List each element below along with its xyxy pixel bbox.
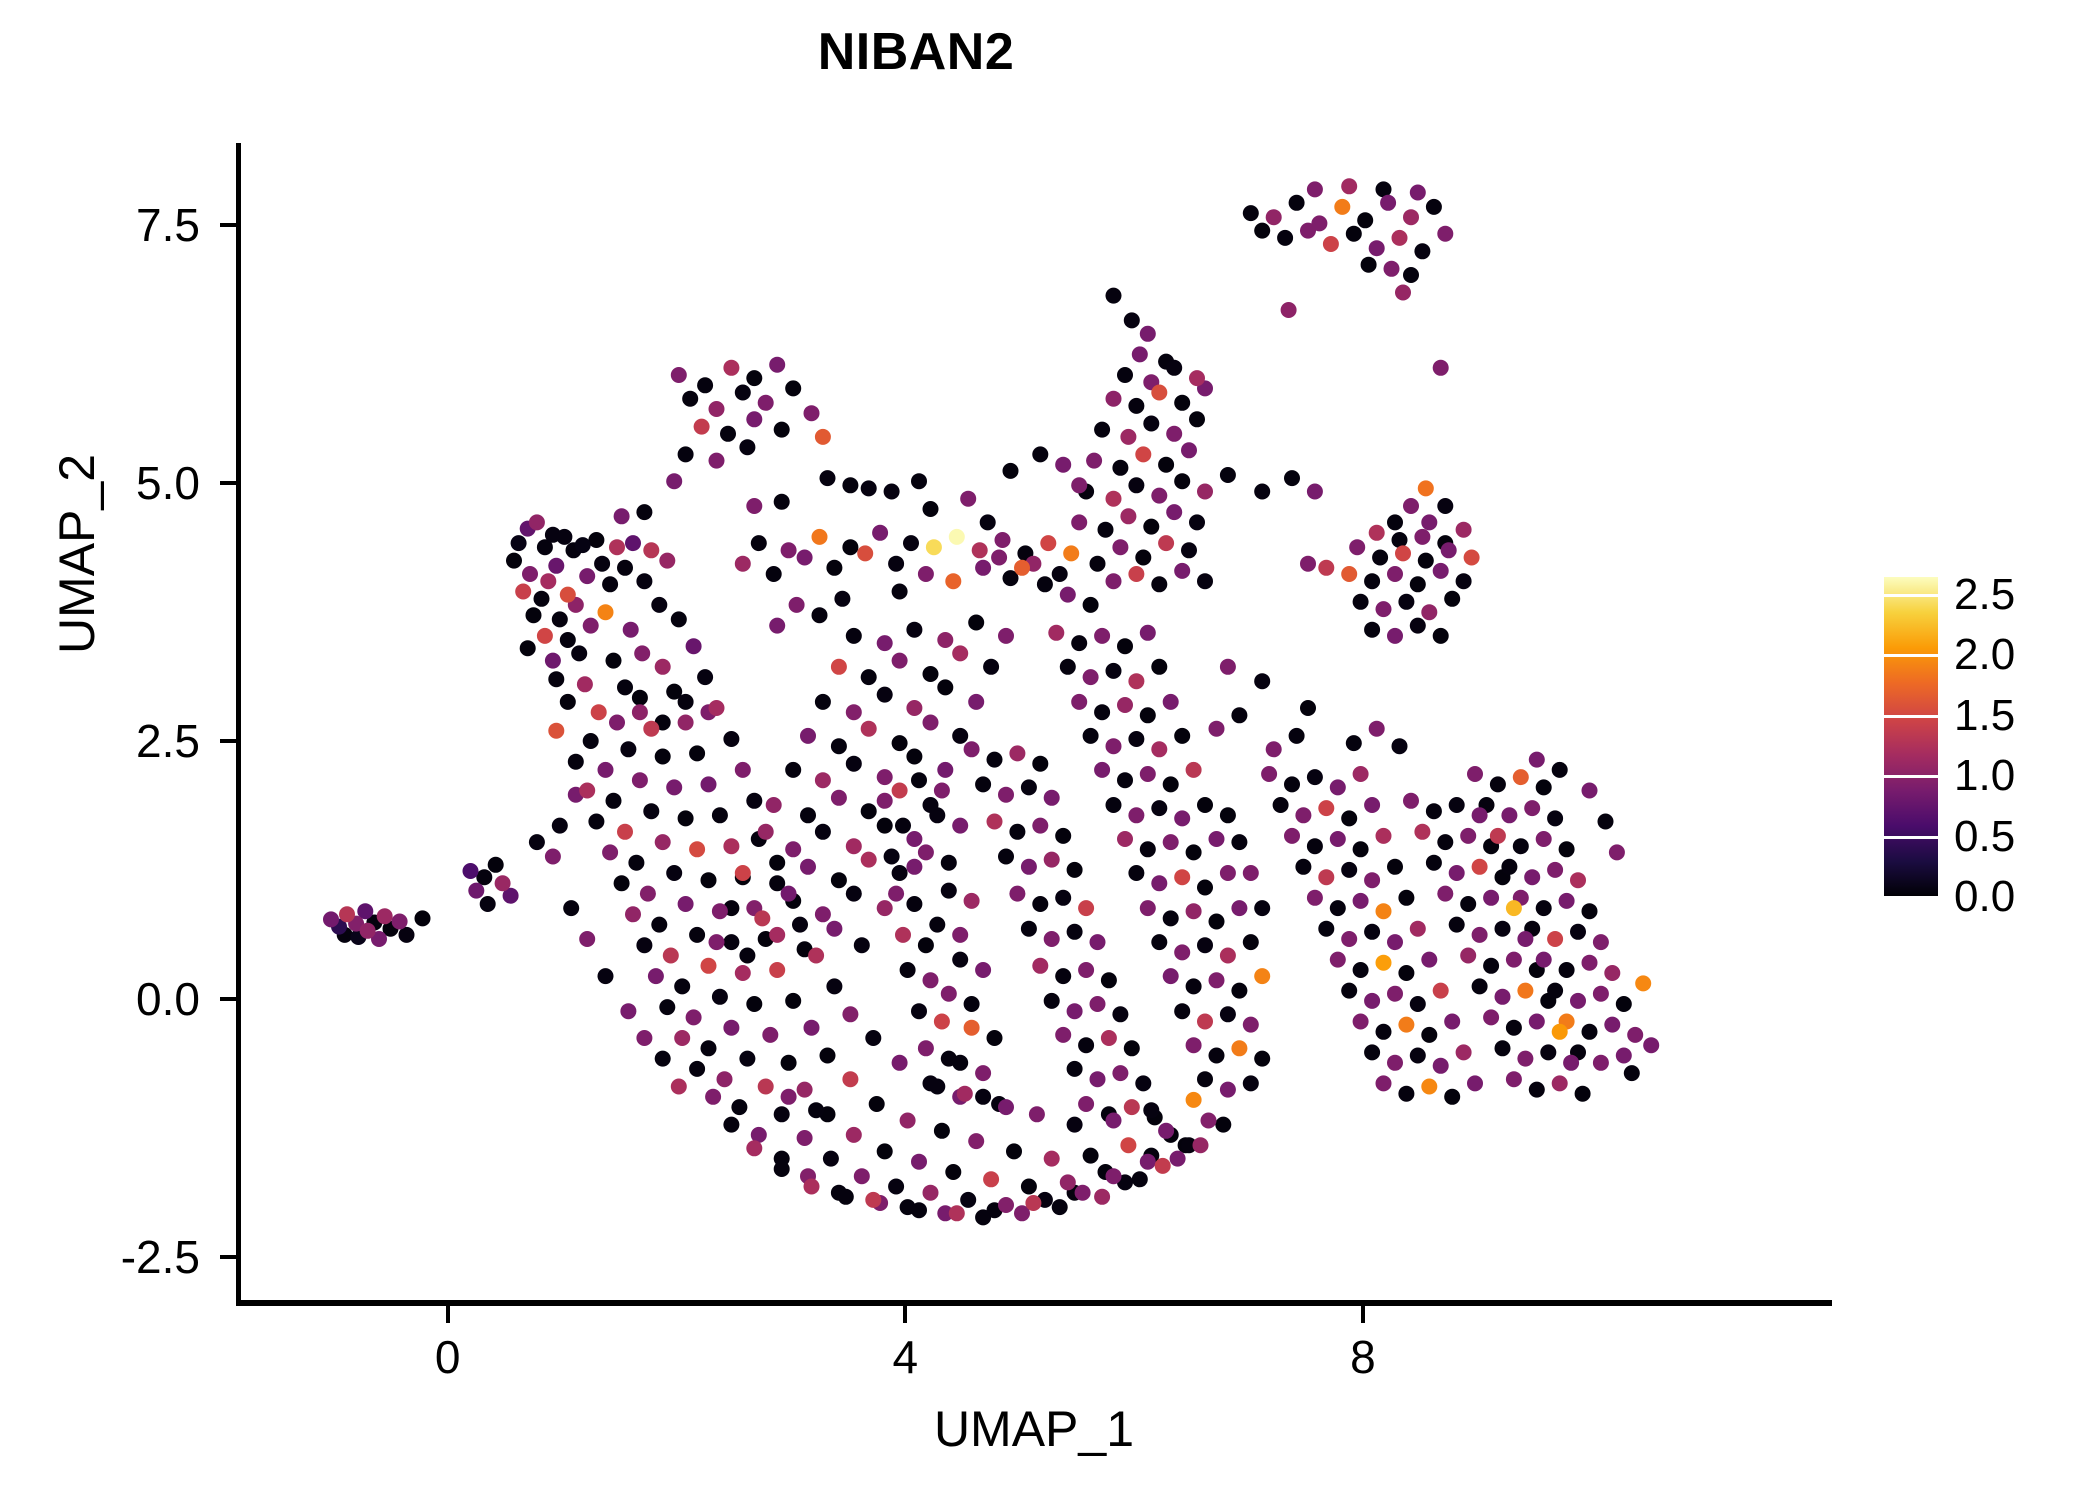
scatter-point (1364, 622, 1380, 638)
scatter-point (480, 896, 496, 912)
scatter-point (846, 1127, 862, 1143)
scatter-point (548, 558, 564, 574)
scatter-point (1361, 257, 1377, 273)
scatter-point (1083, 728, 1099, 744)
scatter-point (632, 772, 648, 788)
scatter-point (1318, 800, 1334, 816)
y-tick-mark (220, 997, 236, 1001)
scatter-point (1151, 741, 1167, 757)
scatter-point (918, 1040, 934, 1056)
scatter-point (892, 584, 908, 600)
scatter-point (620, 1003, 636, 1019)
scatter-point (820, 470, 836, 486)
scatter-point (877, 635, 893, 651)
scatter-point (1044, 993, 1060, 1009)
scatter-point (1444, 1089, 1460, 1105)
scatter-point (632, 704, 648, 720)
legend-tick-label: 0.5 (1954, 812, 2015, 862)
scatter-point (1174, 473, 1190, 489)
scatter-point (1158, 1123, 1174, 1139)
scatter-point (1094, 628, 1110, 644)
scatter-point (968, 1133, 984, 1149)
scatter-point (968, 694, 984, 710)
scatter-point (1143, 416, 1159, 432)
scatter-point (998, 628, 1014, 644)
scatter-point (1106, 288, 1122, 304)
scatter-point (628, 855, 644, 871)
scatter-point (1398, 594, 1414, 610)
scatter-point (666, 779, 682, 795)
scatter-point (1437, 886, 1453, 902)
scatter-point (1369, 525, 1385, 541)
scatter-point (1341, 566, 1357, 582)
scatter-point (1529, 752, 1545, 768)
scatter-point (1083, 1148, 1099, 1164)
scatter-point (1398, 1086, 1414, 1102)
scatter-point (884, 484, 900, 500)
scatter-point (906, 749, 922, 765)
scatter-point (1151, 875, 1167, 891)
scatter-point (1220, 1006, 1236, 1022)
scatter-point (1174, 1003, 1190, 1019)
scatter-point (1254, 1051, 1270, 1067)
scatter-point (1071, 635, 1087, 651)
scatter-point (1009, 824, 1025, 840)
scatter-point (1410, 576, 1426, 592)
scatter-point (911, 1154, 927, 1170)
scatter-point (1021, 921, 1037, 937)
scatter-point (1364, 924, 1380, 940)
scatter-point (815, 694, 831, 710)
scatter-point (857, 545, 873, 561)
scatter-point (1421, 1079, 1437, 1095)
scatter-point (1513, 769, 1529, 785)
scatter-point (717, 1071, 733, 1087)
scatter-point (1547, 810, 1563, 826)
scatter-point (826, 978, 842, 994)
scatter-point (709, 934, 725, 950)
scatter-point (812, 529, 828, 545)
scatter-point (1215, 1117, 1231, 1133)
scatter-point (1140, 766, 1156, 782)
scatter-point (968, 615, 984, 631)
scatter-point (540, 573, 556, 589)
scatter-point (522, 566, 538, 582)
scatter-point (900, 962, 916, 978)
scatter-point (792, 917, 808, 933)
scatter-point (636, 937, 652, 953)
scatter-point (723, 838, 739, 854)
scatter-point (560, 587, 576, 603)
scatter-point (1189, 411, 1205, 427)
legend-tick-label: 1.0 (1954, 751, 2015, 801)
scatter-point (815, 429, 831, 445)
x-tick-label: 0 (368, 1330, 528, 1384)
scatter-point (854, 937, 870, 953)
scatter-point (888, 1179, 904, 1195)
scatter-point (785, 762, 801, 778)
scatter-point (991, 550, 1007, 566)
scatter-point (1421, 952, 1437, 968)
scatter-point (583, 618, 599, 634)
scatter-point (941, 855, 957, 871)
scatter-point (1067, 924, 1083, 940)
scatter-point (655, 834, 671, 850)
scatter-point (1052, 566, 1068, 582)
scatter-point (1151, 800, 1167, 816)
scatter-point (842, 477, 858, 493)
scatter-point (1112, 539, 1128, 555)
scatter-point (1395, 285, 1411, 301)
scatter-point (1135, 446, 1151, 462)
scatter-point (774, 422, 790, 438)
scatter-point (1593, 934, 1609, 950)
x-tick-mark (1361, 1306, 1365, 1323)
legend-tick-mark (1884, 654, 1938, 657)
scatter-point (987, 752, 1003, 768)
scatter-point (1220, 807, 1236, 823)
scatter-point (758, 395, 774, 411)
scatter-point (1582, 955, 1598, 971)
scatter-point (739, 948, 755, 964)
scatter-point (640, 886, 656, 902)
scatter-point (995, 532, 1011, 548)
scatter-point (1289, 195, 1305, 211)
scatter-point (735, 385, 751, 401)
scatter-point (1398, 965, 1414, 981)
scatter-point (1254, 968, 1270, 984)
scatter-point (877, 1143, 893, 1159)
scatter-point (694, 419, 710, 435)
scatter-point (1231, 900, 1247, 916)
scatter-point (964, 996, 980, 1012)
scatter-point (1467, 1075, 1483, 1091)
scatter-point (877, 900, 893, 916)
scatter-point (1410, 996, 1426, 1012)
legend-tick-mark (1884, 896, 1938, 899)
scatter-point (1376, 601, 1392, 617)
y-tick-mark (220, 739, 236, 743)
scatter-point (1101, 1030, 1117, 1046)
scatter-point (689, 1061, 705, 1077)
scatter-point (800, 728, 816, 744)
scatter-point (774, 1106, 790, 1122)
scatter-point (815, 772, 831, 788)
scatter-point (1318, 869, 1334, 885)
scatter-point (987, 814, 1003, 830)
scatter-point (617, 824, 633, 840)
scatter-point (1529, 1014, 1545, 1030)
scatter-point (636, 504, 652, 520)
scatter-point (1364, 1044, 1380, 1060)
scatter-point (671, 611, 687, 627)
scatter-point (636, 573, 652, 589)
scatter-point (1410, 1048, 1426, 1064)
scatter-point (906, 700, 922, 716)
scatter-point (701, 872, 717, 888)
scatter-point (468, 883, 484, 899)
scatter-point (663, 948, 679, 964)
scatter-point (1501, 859, 1517, 875)
scatter-point (515, 584, 531, 600)
scatter-point (1220, 1082, 1236, 1098)
scatter-point (579, 783, 595, 799)
scatter-point (1456, 1044, 1472, 1060)
legend-tick-label: 0.0 (1954, 872, 2015, 922)
scatter-point (895, 818, 911, 834)
scatter-point (606, 653, 622, 669)
scatter-point (666, 865, 682, 881)
legend-tick-mark (1884, 594, 1938, 597)
scatter-point (1318, 921, 1334, 937)
scatter-point (1506, 1020, 1522, 1036)
scatter-point (1132, 346, 1148, 362)
scatter-point (1643, 1037, 1659, 1053)
scatter-point (861, 721, 877, 737)
scatter-point (643, 542, 659, 558)
scatter-point (1483, 890, 1499, 906)
scatter-point (900, 1113, 916, 1129)
scatter-point (1231, 1040, 1247, 1056)
scatter-point (723, 1117, 739, 1133)
scatter-point (1582, 903, 1598, 919)
scatter-point (826, 560, 842, 576)
scatter-point (1128, 865, 1144, 881)
scatter-point (952, 927, 968, 943)
scatter-point (682, 391, 698, 407)
scatter-point (1570, 872, 1586, 888)
scatter-point (769, 927, 785, 943)
scatter-point (934, 783, 950, 799)
scatter-point (1231, 983, 1247, 999)
scatter-point (934, 1123, 950, 1139)
scatter-point (1495, 921, 1511, 937)
scatter-point (1209, 1048, 1225, 1064)
scatter-point (1517, 983, 1533, 999)
scatter-point (1418, 553, 1434, 569)
scatter-point (1254, 484, 1270, 500)
scatter-point (815, 824, 831, 840)
scatter-point (609, 539, 625, 555)
scatter-point (1158, 535, 1174, 551)
scatter-point (1536, 952, 1552, 968)
scatter-point (655, 749, 671, 765)
scatter-point (929, 1079, 945, 1095)
scatter-point (945, 1164, 961, 1180)
scatter-point (1284, 470, 1300, 486)
scatter-point (1387, 628, 1403, 644)
legend-tick-label: 1.5 (1954, 691, 2015, 741)
scatter-point (1384, 261, 1400, 277)
scatter-point (1112, 460, 1128, 476)
scatter-point (1624, 1065, 1640, 1081)
scatter-point (1506, 952, 1522, 968)
scatter-point (1506, 900, 1522, 916)
scatter-point (918, 937, 934, 953)
scatter-point (1483, 958, 1499, 974)
x-axis-line (236, 1300, 1832, 1306)
scatter-point (1044, 852, 1060, 868)
scatter-point (1032, 756, 1048, 772)
scatter-point (1460, 948, 1476, 964)
scatter-point (1254, 900, 1270, 916)
scatter-point (877, 769, 893, 785)
scatter-point (1243, 1017, 1259, 1033)
scatter-point (926, 539, 942, 555)
scatter-point (1021, 779, 1037, 795)
scatter-point (1128, 731, 1144, 747)
scatter-point (1536, 831, 1552, 847)
scatter-point (1387, 1055, 1403, 1071)
scatter-point (1524, 800, 1540, 816)
scatter-point (1021, 1179, 1037, 1195)
scatter-point (666, 473, 682, 489)
scatter-point (655, 659, 671, 675)
scatter-point (1414, 824, 1430, 840)
scatter-point (579, 931, 595, 947)
scatter-point (1547, 983, 1563, 999)
scatter-point (972, 542, 988, 558)
scatter-point (746, 498, 762, 514)
scatter-point (1060, 1174, 1076, 1190)
scatter-point (1300, 223, 1316, 239)
scatter-point (1281, 302, 1297, 318)
scatter-point (511, 535, 527, 551)
scatter-point (846, 886, 862, 902)
scatter-point (632, 690, 648, 706)
scatter-point (709, 401, 725, 417)
scatter-point (1120, 429, 1136, 445)
scatter-point (1044, 790, 1060, 806)
scatter-point (1106, 391, 1122, 407)
scatter-point (1295, 859, 1311, 875)
scatter-point (617, 560, 633, 576)
scatter-point (588, 532, 604, 548)
scatter-point (846, 628, 862, 644)
scatter-point (1307, 838, 1323, 854)
scatter-point (1135, 550, 1151, 566)
scatter-point (1174, 728, 1190, 744)
scatter-point (1220, 659, 1236, 675)
scatter-point (1467, 766, 1483, 782)
y-tick-mark (220, 481, 236, 485)
scatter-point (952, 645, 968, 661)
scatter-point (1006, 1143, 1022, 1159)
scatter-point (1295, 807, 1311, 823)
scatter-point (1341, 862, 1357, 878)
scatter-point (1392, 738, 1408, 754)
scatter-point (1472, 859, 1488, 875)
scatter-point (1197, 880, 1213, 896)
scatter-point (1151, 934, 1167, 950)
scatter-point (591, 704, 607, 720)
scatter-point (1106, 663, 1122, 679)
x-axis-title: UMAP_1 (236, 1400, 1832, 1458)
scatter-point (808, 1102, 824, 1118)
scatter-point (941, 1051, 957, 1067)
scatter-point (911, 1003, 927, 1019)
scatter-point (1449, 865, 1465, 881)
scatter-point (906, 831, 922, 847)
scatter-point (929, 807, 945, 823)
scatter-point (392, 914, 408, 930)
scatter-point (1209, 831, 1225, 847)
scatter-point (1490, 828, 1506, 844)
scatter-point (1197, 937, 1213, 953)
scatter-point (1357, 212, 1373, 228)
scatter-point (957, 1086, 973, 1102)
scatter-point (1128, 398, 1144, 414)
scatter-point (1140, 625, 1156, 641)
scatter-point (1582, 1024, 1598, 1040)
scatter-point (952, 818, 968, 834)
scatter-point (1349, 539, 1365, 555)
scatter-point (1330, 900, 1346, 916)
scatter-point (762, 1027, 778, 1043)
scatter-point (1163, 834, 1179, 850)
scatter-point (1243, 205, 1259, 221)
scatter-point (937, 632, 953, 648)
scatter-point (1559, 893, 1575, 909)
scatter-point (1456, 573, 1472, 589)
scatter-point (598, 762, 614, 778)
scatter-point (598, 968, 614, 984)
scatter-point (1300, 700, 1316, 716)
scatter-point (1083, 597, 1099, 613)
scatter-point (1421, 1027, 1437, 1043)
scatter-point (1517, 1051, 1533, 1067)
scatter-point (785, 841, 801, 857)
scatter-point (674, 978, 690, 994)
scatter-point (1128, 673, 1144, 689)
scatter-point (571, 645, 587, 661)
scatter-point (1124, 312, 1140, 328)
scatter-point (1243, 934, 1259, 950)
scatter-point (865, 1030, 881, 1046)
scatter-point (1387, 514, 1403, 530)
scatter-point (1410, 921, 1426, 937)
scatter-point (937, 762, 953, 778)
scatter-point (701, 776, 717, 792)
scatter-point (1163, 910, 1179, 926)
scatter-point (1181, 542, 1197, 558)
scatter-point (1433, 628, 1449, 644)
scatter-point (583, 733, 599, 749)
scatter-point (1410, 185, 1426, 201)
scatter-point (1197, 573, 1213, 589)
legend-tick-mark (1884, 715, 1938, 718)
scatter-point (1307, 769, 1323, 785)
scatter-point (614, 508, 630, 524)
scatter-point (643, 721, 659, 737)
scatter-point (1032, 818, 1048, 834)
scatter-point (1060, 587, 1076, 603)
scatter-point (739, 1051, 755, 1067)
scatter-point (980, 514, 996, 530)
scatter-point (1341, 810, 1357, 826)
scatter-point (998, 1197, 1014, 1213)
scatter-point (1112, 1006, 1128, 1022)
scatter-point (769, 855, 785, 871)
scatter-point (1444, 1014, 1460, 1030)
scatter-point (911, 473, 927, 489)
y-tick-mark (220, 1255, 236, 1259)
scatter-point (1506, 1071, 1522, 1087)
scatter-point (1063, 545, 1079, 561)
scatter-point (689, 745, 705, 761)
scatter-point (1083, 669, 1099, 685)
scatter-point (625, 906, 641, 922)
